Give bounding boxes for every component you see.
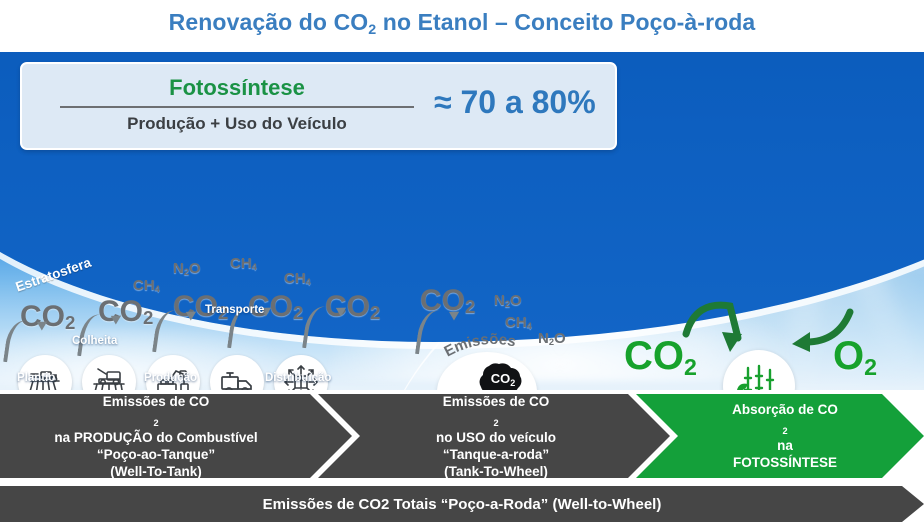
title-prefix: Renovação do CO [169,9,369,35]
chevron3-line1: Absorção de CO2 na [732,401,838,454]
gas-label-ch4-2: CH4 [230,255,257,272]
chevron1-line3: “Poço-ao-Tanque” [54,446,257,463]
chevron2-line1: Emissões de CO2 [436,393,556,429]
stage-label-distribuicao: Distribuição [265,372,331,384]
ratio-fraction: Fotossíntese Produção + Uso do Veículo [52,74,422,136]
gas-label-car-ch4: CH4 [505,314,532,331]
fraction-bar [60,106,414,108]
chevron1-line2: na PRODUÇÃO do Combustível [54,429,257,446]
chevron1-line4: (Well-To-Tank) [54,463,257,480]
page-title: Renovação do CO2 no Etanol – Conceito Po… [0,9,924,36]
total-emissions-label: Emissões de CO2 Totais “Poço-a-Roda” (We… [263,496,662,513]
gas-label-n2o-1: N2O [173,260,201,277]
infographic-root: Renovação do CO2 no Etanol – Conceito Po… [0,0,924,527]
gas-label-ch4-3: CH4 [284,270,311,287]
stage-label-transporte: Transporte [205,304,264,316]
chevron-tank-to-wheel: Emissões de CO2 no USO do veículo “Tanqu… [318,394,670,478]
photosynthesis-ratio-box: Fotossíntese Produção + Uso do Veículo ≈… [20,62,617,150]
chevron3-line3: FOTOSSÍNTESE [732,454,838,471]
ratio-result: ≈ 70 a 80% [434,84,604,121]
chevron1-line1: Emissões de CO2 [54,393,257,429]
title-subscript: 2 [368,22,376,38]
stage-label-plantio: Plantio [17,372,55,384]
chevron2-line3: “Tanque-a-roda” [436,446,556,463]
total-emissions-bar: Emissões de CO2 Totais “Poço-a-Roda” (We… [0,486,924,522]
chevron2-line4: (Tank-To-Wheel) [436,463,556,480]
chevron2-line2: no USO do veículo [436,429,556,446]
chevron-well-to-tank: Emissões de CO2 na PRODUÇÃO do Combustív… [0,394,352,478]
car-emissions-icon: CO2 [437,352,537,390]
o2-release-arrow [780,300,860,362]
ratio-denominator: Produção + Uso do Veículo [52,112,422,136]
stage-label-producao: Produção [144,372,197,384]
gas-label-car-n2o-2: N2O [538,330,566,347]
ratio-numerator: Fotossíntese [52,74,422,102]
stage-label-colheita: Colheita [72,335,117,347]
gas-label-car-n2o-1: N2O [494,292,522,309]
title-suffix: no Etanol – Conceito Poço-à-roda [376,9,755,35]
chevron-photosynthesis-absorption: Absorção de CO2 na FOTOSSÍNTESE [636,394,924,478]
gas-label-ch4-1: CH4 [133,277,160,294]
process-chevron-row: Emissões de CO2 na PRODUÇÃO do Combustív… [0,394,924,478]
